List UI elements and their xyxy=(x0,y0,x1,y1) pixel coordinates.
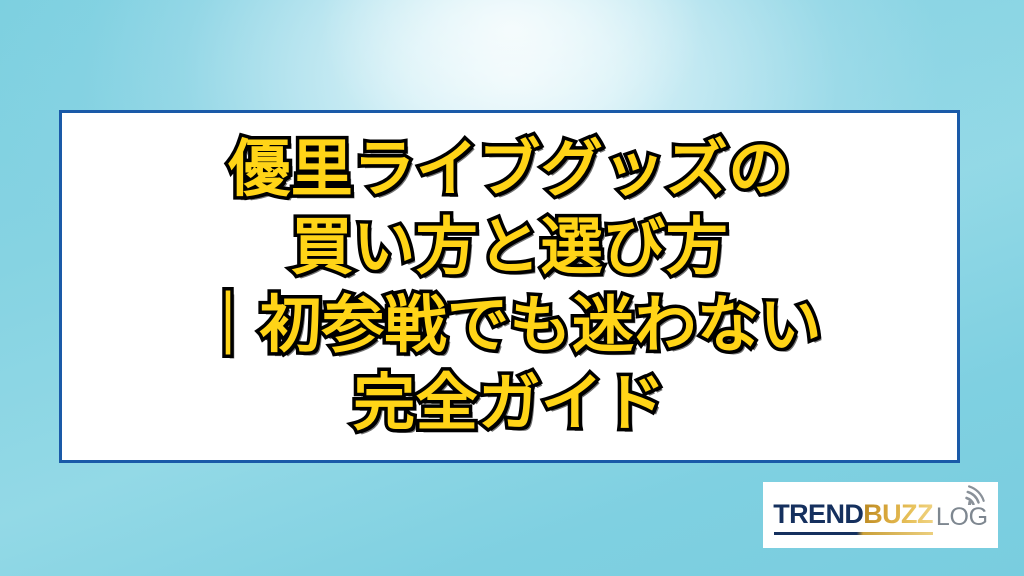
title-card: 優里ライブグッズの 買い方と選び方 ｜初参戦でも迷わない 完全ガイド xyxy=(59,110,960,463)
title-line-1: 優里ライブグッズの xyxy=(228,130,791,208)
title-line-4: 完全ガイド xyxy=(353,364,666,442)
thumbnail-canvas: 優里ライブグッズの 買い方と選び方 ｜初参戦でも迷わない 完全ガイド TREND… xyxy=(0,0,1024,576)
title-line-3: ｜初参戦でも迷わない xyxy=(197,286,822,364)
brand-trend-text: TREND xyxy=(773,499,863,529)
brand-log-text: LOG xyxy=(936,505,988,530)
brand-logo: TRENDBUZZ LOG xyxy=(773,499,988,532)
brand-wordmark: TRENDBUZZ xyxy=(773,499,933,530)
title-line-2: 買い方と選び方 xyxy=(291,208,729,286)
title-text-block: 優里ライブグッズの 買い方と選び方 ｜初参戦でも迷わない 完全ガイド xyxy=(197,130,822,442)
wifi-signal-icon xyxy=(964,483,990,505)
brand-buzz-text: BUZZ xyxy=(863,499,933,529)
brand-underline xyxy=(774,532,933,535)
brand-logo-card[interactable]: TRENDBUZZ LOG xyxy=(763,482,998,548)
